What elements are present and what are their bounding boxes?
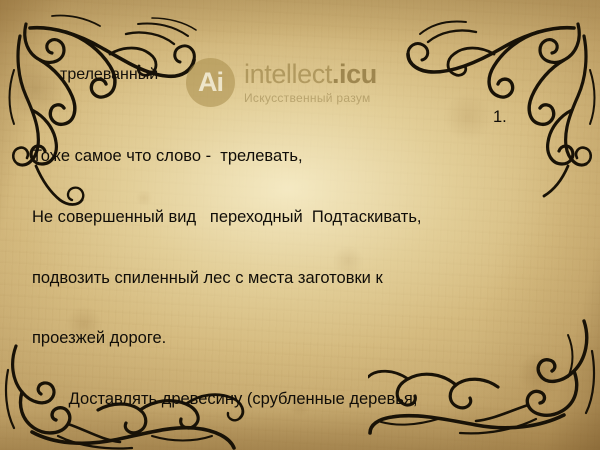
watermark: Ai intellect.icu Искусственный разум <box>186 58 377 107</box>
definition-body: Тоже самое что слово - трелевать, Не сов… <box>32 106 580 450</box>
definition-line: подвозить спиленный лес с места заготовк… <box>32 268 580 288</box>
watermark-title: intellect.icu <box>244 61 377 88</box>
definition-line: Тоже самое что слово - трелевать, <box>32 146 580 166</box>
presentation-slide: Ai intellect.icu Искусственный разум тре… <box>0 0 600 450</box>
watermark-title-bold: .icu <box>332 59 377 89</box>
watermark-subtitle: Искусственный разум <box>244 92 377 104</box>
definition-line: проезжей дороге. <box>32 328 580 348</box>
watermark-title-light: intellect <box>244 59 332 89</box>
definition-line: Доставлять древесину (срубленные деревья… <box>32 389 580 409</box>
watermark-logo-icon: Ai <box>186 58 235 107</box>
watermark-text-block: intellect.icu Искусственный разум <box>244 61 377 104</box>
definition-line: Не совершенный вид переходный Подтаскива… <box>32 207 580 227</box>
watermark-logo-text: Ai <box>198 69 223 96</box>
headword: трелеванный <box>60 66 158 84</box>
